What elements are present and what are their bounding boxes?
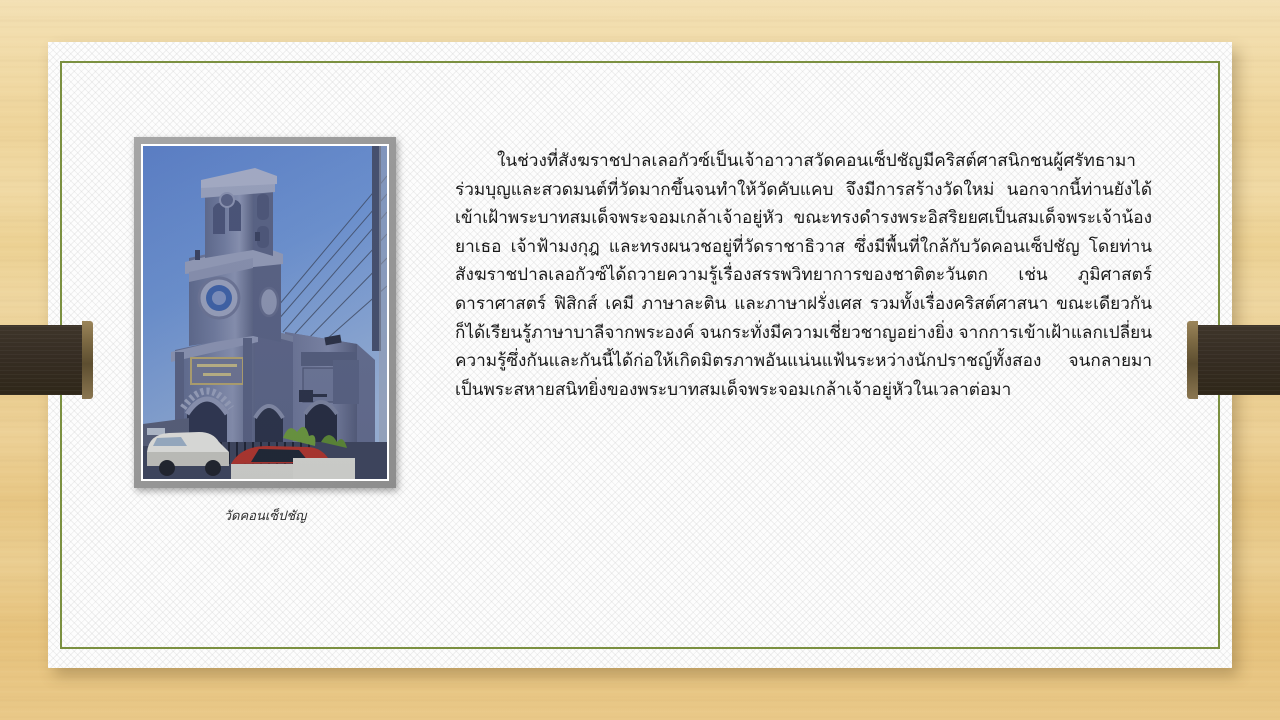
presentation-slide: วัดคอนเซ็ปชัญ ในช่วงที่สังฆราชปาลเลอกัวซ… <box>0 0 1280 720</box>
figure-caption: วัดคอนเซ็ปชัญ <box>134 505 396 526</box>
church-photo-illustration <box>143 146 387 479</box>
church-photo <box>143 146 387 479</box>
decorative-ribbon-right <box>1198 325 1280 395</box>
decorative-ribbon-left <box>0 325 82 395</box>
body-paragraph: ในช่วงที่สังฆราชปาลเลอกัวซ์เป็นเจ้าอาวาส… <box>455 146 1152 403</box>
decorative-ribbon-left-tab <box>82 321 93 399</box>
decorative-ribbon-right-tab <box>1187 321 1198 399</box>
figure-image-frame <box>134 137 396 488</box>
